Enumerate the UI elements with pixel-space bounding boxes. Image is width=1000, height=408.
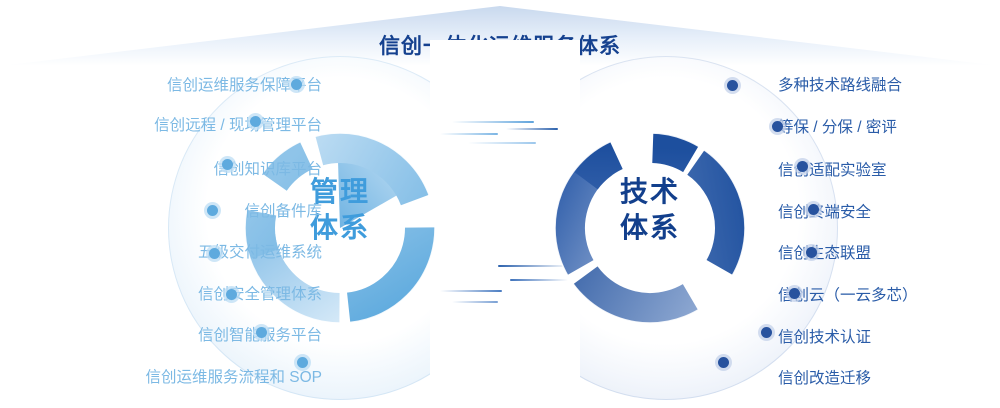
left-dot-5[interactable] bbox=[226, 289, 237, 300]
left-item-5[interactable]: 信创安全管理体系 bbox=[198, 287, 322, 303]
right-dot-4[interactable] bbox=[806, 247, 817, 258]
left-dot-7[interactable] bbox=[297, 357, 308, 368]
speed-line-8 bbox=[452, 301, 498, 303]
right-item-0[interactable]: 多种技术路线融合 bbox=[778, 78, 902, 94]
right-donut-chart: 技术 体系 bbox=[536, 114, 764, 342]
right-dot-2[interactable] bbox=[797, 161, 808, 172]
right-item-2[interactable]: 信创适配实验室 bbox=[778, 163, 887, 179]
right-dot-5[interactable] bbox=[789, 288, 800, 299]
right-dot-6[interactable] bbox=[761, 327, 772, 338]
right-hub-line1: 技术 bbox=[536, 174, 764, 210]
right-hub-label: 技术 体系 bbox=[536, 174, 764, 246]
left-item-1[interactable]: 信创远程 / 现场管理平台 bbox=[154, 118, 322, 134]
right-dot-7[interactable] bbox=[718, 357, 729, 368]
right-dot-0[interactable] bbox=[727, 80, 738, 91]
right-item-1[interactable]: 等保 / 分保 / 密评 bbox=[778, 120, 897, 136]
right-dot-1[interactable] bbox=[772, 121, 783, 132]
left-dot-1[interactable] bbox=[250, 116, 261, 127]
speed-line-3 bbox=[468, 142, 536, 144]
right-item-7[interactable]: 信创改造迁移 bbox=[778, 371, 871, 387]
left-dot-4[interactable] bbox=[209, 248, 220, 259]
left-dot-6[interactable] bbox=[256, 327, 267, 338]
right-item-4[interactable]: 信创生态联盟 bbox=[778, 246, 871, 262]
left-dot-0[interactable] bbox=[291, 79, 302, 90]
right-hub-line2: 体系 bbox=[536, 210, 764, 246]
right-dot-3[interactable] bbox=[808, 204, 819, 215]
left-dot-2[interactable] bbox=[222, 159, 233, 170]
speed-line-1 bbox=[452, 121, 534, 123]
left-item-7[interactable]: 信创运维服务流程和 SOP bbox=[145, 370, 322, 386]
left-dot-3[interactable] bbox=[207, 205, 218, 216]
infographic-canvas: 信创一体化运维服务体系 bbox=[0, 0, 1000, 408]
right-item-6[interactable]: 信创技术认证 bbox=[778, 330, 871, 346]
left-item-3[interactable]: 信创备件库 bbox=[244, 204, 322, 220]
left-donut-chart: 管理 体系 bbox=[226, 114, 454, 342]
right-item-3[interactable]: 信创终端安全 bbox=[778, 205, 871, 221]
